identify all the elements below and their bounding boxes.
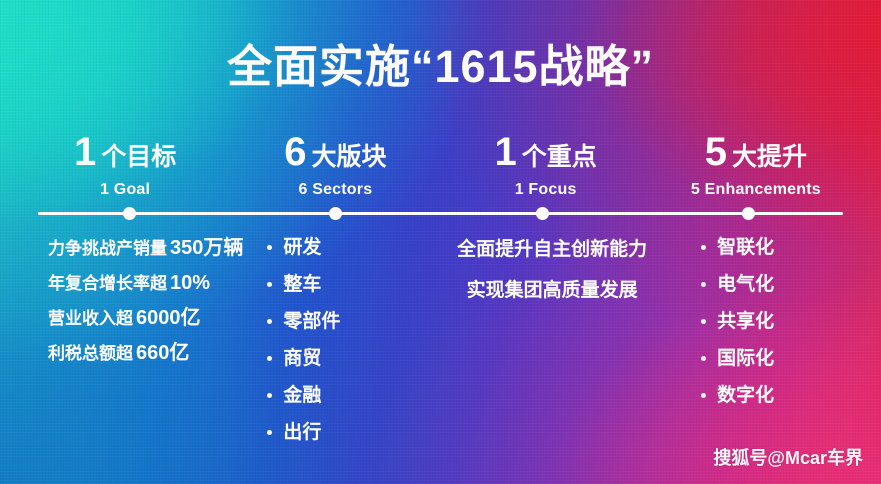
focus-text-block: 全面提升自主创新能力 实现集团高质量发展 xyxy=(449,238,655,300)
column-body-focus: 全面提升自主创新能力 实现集团高质量发展 xyxy=(449,238,655,322)
header-main-sectors: 6 大版块 xyxy=(230,132,440,172)
list-item: 实现集团高质量发展 xyxy=(449,281,655,300)
header-number-enhancements: 5 xyxy=(705,132,727,172)
list-item: 零部件 xyxy=(267,312,449,331)
list-item: 年复合增长率超10% xyxy=(48,273,243,293)
list-item: 数字化 xyxy=(701,386,861,405)
page-title: 全面实施“1615战略” xyxy=(0,42,881,92)
column-header-enhancements: 5 大提升 5 Enhancements xyxy=(651,132,861,199)
header-label-cn-sectors: 大版块 xyxy=(311,145,386,170)
timeline-divider xyxy=(38,212,843,215)
header-label-en-goal: 1 Goal xyxy=(20,181,230,199)
stat-label: 利税总额超 xyxy=(48,344,133,363)
header-number-focus: 1 xyxy=(494,132,516,172)
list-item: 整车 xyxy=(267,275,449,294)
list-item: 共享化 xyxy=(701,312,861,331)
column-header-focus: 1 个重点 1 Focus xyxy=(441,132,651,199)
timeline-node-goal xyxy=(123,207,136,220)
header-main-enhancements: 5 大提升 xyxy=(651,132,861,172)
list-item: 智联化 xyxy=(701,238,861,257)
column-body-goal: 力争挑战产销量350万辆 年复合增长率超10% 营业收入超6000亿 利税总额超… xyxy=(20,238,243,378)
header-label-cn-goal: 个目标 xyxy=(101,145,176,170)
timeline-node-enhancements xyxy=(742,207,755,220)
column-header-sectors: 6 大版块 6 Sectors xyxy=(230,132,440,199)
header-label-cn-focus: 个重点 xyxy=(522,145,597,170)
column-body-enhancements: 智联化 电气化 共享化 国际化 数字化 xyxy=(655,238,861,423)
stat-value: 6000亿 xyxy=(136,307,201,329)
list-item: 营业收入超6000亿 xyxy=(48,308,243,328)
goal-stat-list: 力争挑战产销量350万辆 年复合增长率超10% 营业收入超6000亿 利税总额超… xyxy=(20,238,243,363)
stat-value: 660亿 xyxy=(136,342,189,364)
column-header-goal: 1 个目标 1 Goal xyxy=(20,132,230,199)
list-item: 电气化 xyxy=(701,275,861,294)
stat-label: 营业收入超 xyxy=(48,309,133,328)
timeline-node-sectors xyxy=(329,207,342,220)
header-label-en-focus: 1 Focus xyxy=(441,181,651,199)
stat-value: 10% xyxy=(170,272,210,294)
header-label-en-sectors: 6 Sectors xyxy=(230,181,440,199)
column-body-sectors: 研发 整车 零部件 商贸 金融 出行 xyxy=(243,238,449,460)
watermark: 搜狐号@Mcar车界 xyxy=(713,444,863,470)
list-item: 出行 xyxy=(267,423,449,442)
list-item: 利税总额超660亿 xyxy=(48,343,243,363)
header-number-sectors: 6 xyxy=(284,132,306,172)
header-number-goal: 1 xyxy=(74,132,96,172)
list-item: 国际化 xyxy=(701,349,861,368)
header-main-goal: 1 个目标 xyxy=(20,132,230,172)
list-item: 全面提升自主创新能力 xyxy=(449,240,655,259)
list-item: 商贸 xyxy=(267,349,449,368)
header-label-cn-enhancements: 大提升 xyxy=(732,145,807,170)
infographic-poster: 全面实施“1615战略” 1 个目标 1 Goal 6 大版块 6 Sector… xyxy=(0,0,881,484)
header-label-en-enhancements: 5 Enhancements xyxy=(651,181,861,199)
stat-label: 力争挑战产销量 xyxy=(48,239,167,258)
sectors-bullet-list: 研发 整车 零部件 商贸 金融 出行 xyxy=(243,238,449,442)
stat-value: 350万辆 xyxy=(170,237,243,259)
stat-label: 年复合增长率超 xyxy=(48,274,167,293)
column-headers: 1 个目标 1 Goal 6 大版块 6 Sectors 1 个重点 1 Foc… xyxy=(20,132,861,199)
header-main-focus: 1 个重点 xyxy=(441,132,651,172)
enhancements-bullet-list: 智联化 电气化 共享化 国际化 数字化 xyxy=(655,238,861,405)
list-item: 力争挑战产销量350万辆 xyxy=(48,238,243,258)
column-bodies: 力争挑战产销量350万辆 年复合增长率超10% 营业收入超6000亿 利税总额超… xyxy=(20,238,861,460)
timeline-node-focus xyxy=(536,207,549,220)
list-item: 金融 xyxy=(267,386,449,405)
list-item: 研发 xyxy=(267,238,449,257)
